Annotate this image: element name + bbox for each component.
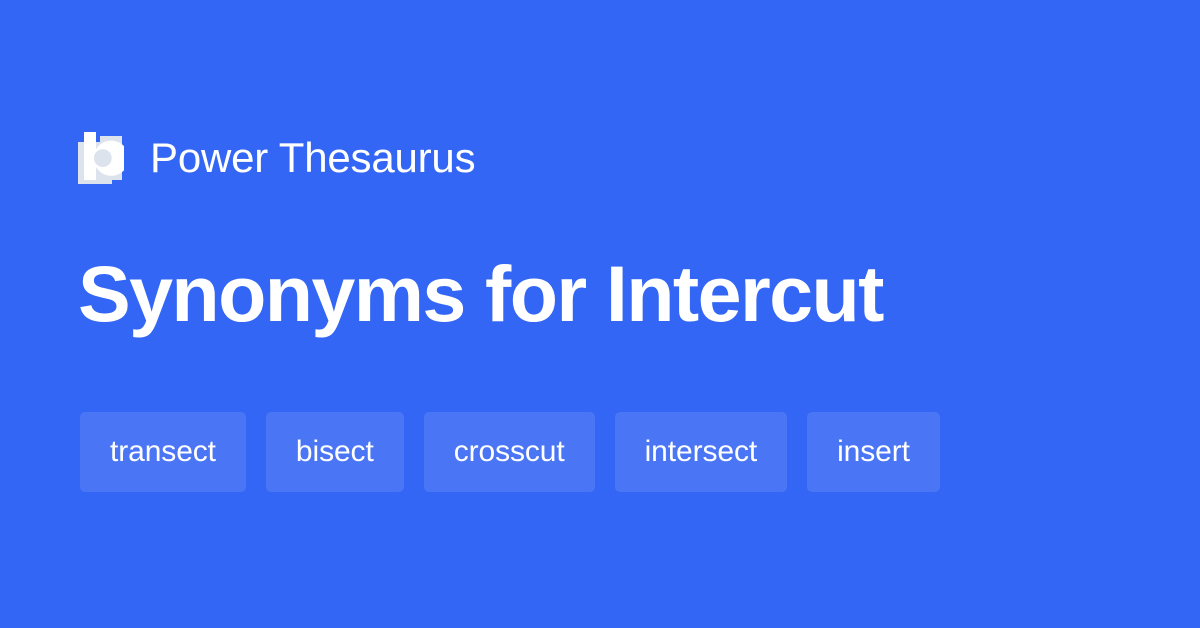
synonym-chip[interactable]: bisect [266, 412, 404, 492]
brand-lockup[interactable]: Power Thesaurus [78, 128, 475, 188]
share-card: Power Thesaurus Synonyms for Intercut tr… [0, 0, 1200, 628]
brand-name: Power Thesaurus [150, 137, 475, 179]
synonym-chip[interactable]: intersect [615, 412, 787, 492]
synonym-chip[interactable]: transect [80, 412, 246, 492]
synonym-chip-list: transect bisect crosscut intersect inser… [80, 412, 1120, 492]
page-title: Synonyms for Intercut [78, 247, 1138, 341]
synonym-chip[interactable]: crosscut [424, 412, 595, 492]
power-thesaurus-b-logo-icon [78, 132, 124, 184]
synonym-chip[interactable]: insert [807, 412, 940, 492]
